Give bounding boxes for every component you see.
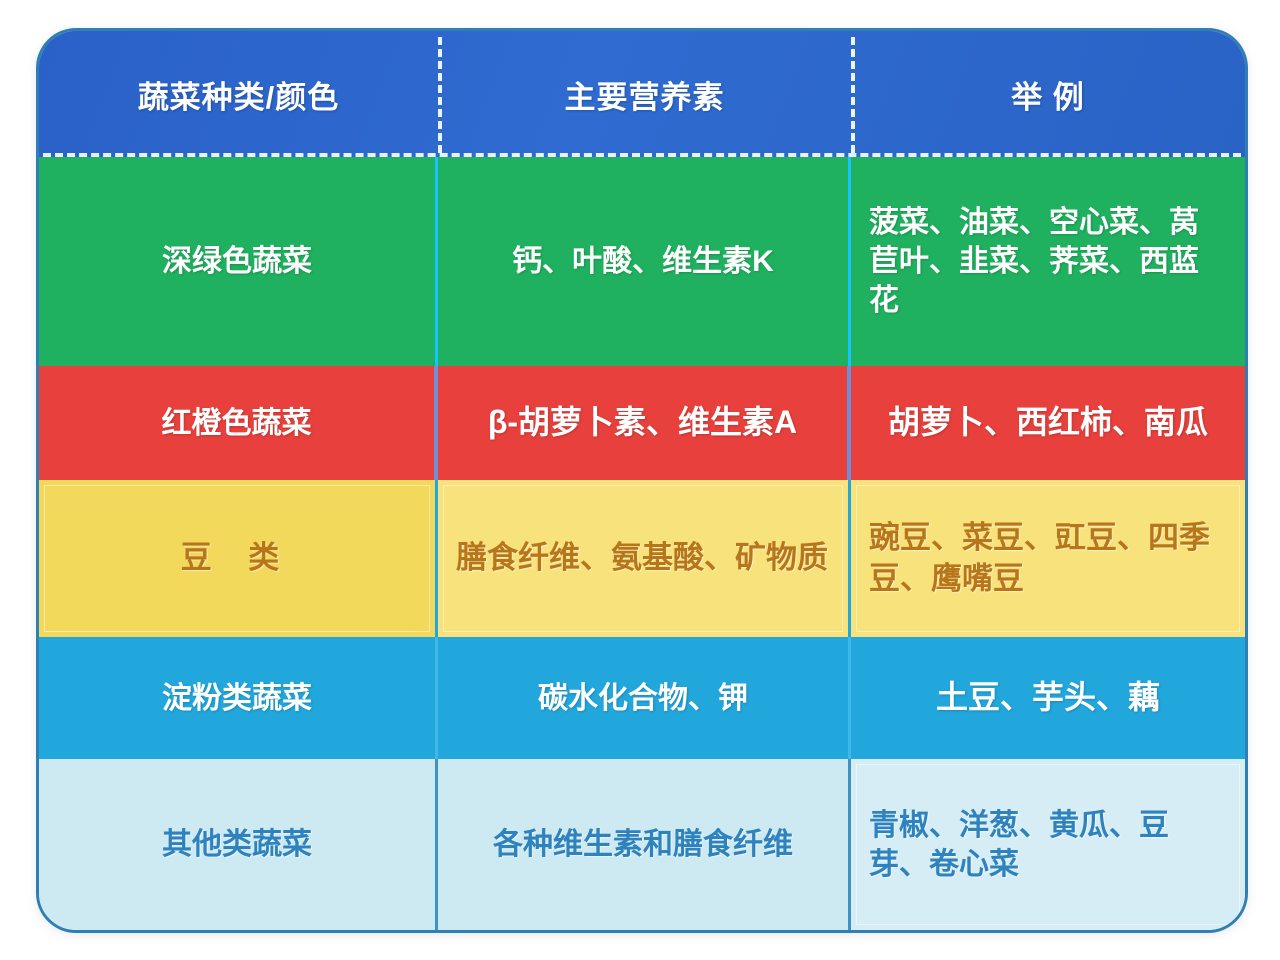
header-cell-examples: 举 例 [851, 31, 1245, 157]
cell-nutrients: 碳水化合物、钾 [438, 637, 851, 759]
category-label: 深绿色蔬菜 [39, 242, 435, 281]
category-label: 其他类蔬菜 [39, 825, 435, 864]
header-label-nutrients: 主要营养素 [565, 72, 725, 117]
table-row: 红橙色蔬菜 β-胡萝卜素、维生素A 胡萝卜、西红柿、南瓜 [39, 366, 1245, 480]
cell-nutrients: β-胡萝卜素、维生素A [438, 366, 851, 480]
table-row: 豆 类 膳食纤维、氨基酸、矿物质 豌豆、菜豆、豇豆、四季豆、鹰嘴豆 [39, 480, 1245, 637]
table: 蔬菜种类/颜色 主要营养素 举 例 深绿色蔬菜 钙、叶酸、维生素K 菠菜、油菜、… [39, 31, 1245, 930]
examples-label: 胡萝卜、西红柿、南瓜 [851, 402, 1245, 444]
cell-category: 豆 类 [39, 480, 438, 637]
nutrients-label: 钙、叶酸、维生素K [438, 242, 848, 281]
nutrients-label: 膳食纤维、氨基酸、矿物质 [438, 538, 848, 578]
category-label: 豆 类 [39, 538, 435, 578]
header-label-examples: 举 例 [1011, 72, 1085, 117]
cell-category: 红橙色蔬菜 [39, 366, 438, 480]
cell-examples: 豌豆、菜豆、豇豆、四季豆、鹰嘴豆 [851, 480, 1245, 637]
examples-label: 豌豆、菜豆、豇豆、四季豆、鹰嘴豆 [851, 518, 1245, 599]
cell-examples: 胡萝卜、西红柿、南瓜 [851, 366, 1245, 480]
cell-examples: 菠菜、油菜、空心菜、莴苣叶、韭菜、荠菜、西蓝花 [851, 157, 1245, 366]
cell-examples: 土豆、芋头、藕 [851, 637, 1245, 759]
cell-examples: 青椒、洋葱、黄瓜、豆芽、卷心菜 [851, 759, 1245, 930]
cell-nutrients: 各种维生素和膳食纤维 [438, 759, 851, 930]
cell-category: 淀粉类蔬菜 [39, 637, 438, 759]
nutrients-label: β-胡萝卜素、维生素A [438, 402, 847, 444]
header-cell-nutrients: 主要营养素 [438, 31, 851, 157]
cell-category: 其他类蔬菜 [39, 759, 438, 930]
header-cell-category: 蔬菜种类/颜色 [39, 31, 438, 157]
examples-label: 菠菜、油菜、空心菜、莴苣叶、韭菜、荠菜、西蓝花 [851, 203, 1245, 320]
category-label: 淀粉类蔬菜 [39, 679, 435, 718]
nutrients-label: 碳水化合物、钾 [438, 679, 848, 718]
cell-category: 深绿色蔬菜 [39, 157, 438, 366]
cell-nutrients: 膳食纤维、氨基酸、矿物质 [438, 480, 851, 637]
category-label: 红橙色蔬菜 [39, 404, 434, 443]
nutrients-label: 各种维生素和膳食纤维 [438, 825, 848, 864]
header-label-category: 蔬菜种类/颜色 [138, 72, 340, 117]
examples-label: 青椒、洋葱、黄瓜、豆芽、卷心菜 [851, 806, 1245, 884]
table-row: 深绿色蔬菜 钙、叶酸、维生素K 菠菜、油菜、空心菜、莴苣叶、韭菜、荠菜、西蓝花 [39, 157, 1245, 366]
table-row: 淀粉类蔬菜 碳水化合物、钾 土豆、芋头、藕 [39, 637, 1245, 759]
table-row: 其他类蔬菜 各种维生素和膳食纤维 青椒、洋葱、黄瓜、豆芽、卷心菜 [39, 759, 1245, 930]
table-header-row: 蔬菜种类/颜色 主要营养素 举 例 [39, 31, 1245, 157]
examples-label: 土豆、芋头、藕 [851, 677, 1245, 719]
cell-nutrients: 钙、叶酸、维生素K [438, 157, 851, 366]
vegetable-classification-table: 蔬菜种类/颜色 主要营养素 举 例 深绿色蔬菜 钙、叶酸、维生素K 菠菜、油菜、… [36, 28, 1248, 933]
